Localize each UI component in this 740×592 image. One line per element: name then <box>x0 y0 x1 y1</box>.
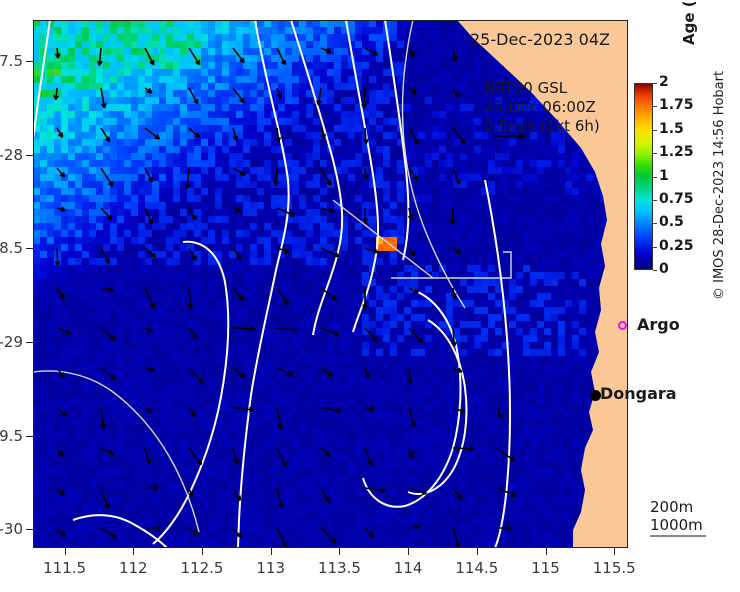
model-name-label: NRT00 GSL <box>484 79 600 98</box>
x-tick <box>133 548 134 555</box>
colorbar-tick <box>653 153 657 154</box>
colorbar-tick-label: 0.25 <box>659 238 694 254</box>
x-tick-label: 115.5 <box>574 559 654 577</box>
depth-1000m-label: 1000m <box>650 516 703 534</box>
copyright-label: © IMOS 28-Dec-2023 14:56 Hobart <box>712 40 727 300</box>
colorbar-tick <box>653 130 657 131</box>
colorbar-tick <box>653 223 657 224</box>
colorbar-tick <box>653 247 657 248</box>
y-tick-label: 28.5 <box>0 239 23 257</box>
colorbar-tick <box>653 83 657 84</box>
y-tick <box>26 61 33 62</box>
x-tick <box>408 548 409 555</box>
x-tick <box>202 548 203 555</box>
y-tick-label: -28 <box>0 146 23 164</box>
colorbar-tick-label: 1.25 <box>659 144 694 160</box>
x-tick <box>614 548 615 555</box>
colorbar-tick-label: 1.75 <box>659 97 694 113</box>
timestamp-label: 25-Dec-2023 04Z <box>470 30 610 49</box>
colorbar-tick-label: 0.5 <box>659 214 684 230</box>
y-tick-label: -30 <box>0 520 23 538</box>
depth-200m-label: 200m <box>650 498 703 516</box>
x-tick <box>271 548 272 555</box>
argo-legend-label: Argo <box>637 315 680 334</box>
depth-contour-legend: 200m 1000m <box>650 498 703 534</box>
x-tick <box>65 548 66 555</box>
colorbar-tick <box>653 177 657 178</box>
colorbar-tick <box>653 106 657 107</box>
y-tick <box>26 436 33 437</box>
colorbar-tick-label: 1 <box>659 168 669 184</box>
colorbar-gradient <box>634 83 653 270</box>
colorbar-tick-label: 0.75 <box>659 191 694 207</box>
argo-marker-icon <box>618 321 627 330</box>
colorbar-title: Age (days) of filled SST (wrt latest) <box>680 0 698 45</box>
colorbar[interactable] <box>634 83 653 270</box>
colorbar-tick <box>653 270 657 271</box>
y-tick-label: 29.5 <box>0 427 23 445</box>
reference-vector-arrow <box>492 130 528 142</box>
y-tick <box>26 155 33 156</box>
y-tick <box>26 248 33 249</box>
y-tick-label: -29 <box>0 333 23 351</box>
colorbar-tick-label: 2 <box>659 74 669 90</box>
model-info-block: NRT00 GSL 25-Dec 06:00Z 0.5m/s (1kt 6h) <box>484 79 600 136</box>
depth-legend-rule <box>650 535 706 537</box>
colorbar-tick <box>653 200 657 201</box>
x-tick <box>477 548 478 555</box>
colorbar-tick-label: 1.5 <box>659 121 684 137</box>
dongara-place-label: Dongara <box>600 384 677 403</box>
colorbar-tick-label: 0 <box>659 261 669 277</box>
y-tick <box>26 529 33 530</box>
y-tick <box>26 342 33 343</box>
y-tick-label: 27.5 <box>0 52 23 70</box>
x-tick <box>339 548 340 555</box>
model-time-label: 25-Dec 06:00Z <box>484 98 600 117</box>
x-tick <box>546 548 547 555</box>
